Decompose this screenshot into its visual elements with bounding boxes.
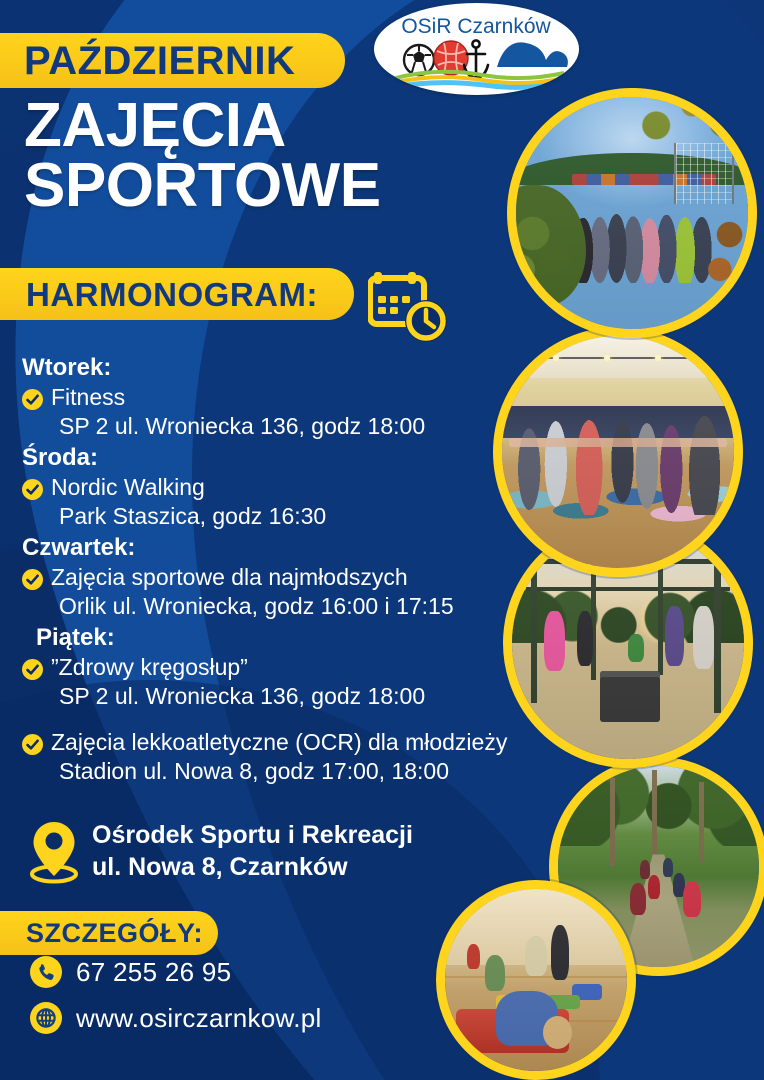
schedule-day-tuesday: Wtorek: — [22, 354, 522, 382]
activity-place: Park Staszica, godz 16:30 — [51, 502, 326, 531]
schedule-entry-text: Nordic Walking Park Staszica, godz 16:30 — [51, 473, 326, 532]
schedule-entry: ”Zdrowy kręgosłup” SP 2 ul. Wroniecka 13… — [22, 653, 522, 712]
schedule-entry: Fitness SP 2 ul. Wroniecka 136, godz 18:… — [22, 383, 522, 442]
activity-name: Zajęcia lekkoatletyczne (OCR) dla młodzi… — [51, 729, 507, 755]
check-icon — [22, 734, 43, 755]
activity-place: Orlik ul. Wroniecka, godz 16:00 i 17:15 — [51, 592, 454, 621]
logo-text: OSiR Czarnków — [401, 15, 551, 38]
activity-place: SP 2 ul. Wroniecka 136, godz 18:00 — [51, 682, 425, 711]
phone-number: 67 255 26 95 — [76, 957, 231, 988]
wave-icon — [497, 42, 568, 67]
schedule-entry: Nordic Walking Park Staszica, godz 16:30 — [22, 473, 522, 532]
venue-address-text: Ośrodek Sportu i Rekreacji ul. Nowa 8, C… — [92, 819, 413, 883]
schedule-entry-text: Fitness SP 2 ul. Wroniecka 136, godz 18:… — [51, 383, 425, 442]
poster-root: OSiR Czarnków — [0, 0, 764, 1080]
activity-name: ”Zdrowy kręgosłup” — [51, 654, 248, 680]
globe-icon — [30, 1002, 62, 1034]
calendar-clock-icon — [368, 266, 452, 346]
schedule-entry-text: Zajęcia lekkoatletyczne (OCR) dla młodzi… — [51, 728, 507, 787]
photo-indoor-fitness-class — [493, 327, 743, 577]
contact-phone[interactable]: 67 255 26 95 — [30, 956, 322, 988]
schedule-entry: Zajęcia sportowe dla najmłodszych Orlik … — [22, 563, 522, 622]
title-line-2: SPORTOWE — [24, 156, 381, 216]
activity-name: Zajęcia sportowe dla najmłodszych — [51, 564, 408, 590]
month-banner: PAŹDZIERNIK — [0, 33, 345, 88]
details-banner: SZCZEGÓŁY: — [0, 911, 218, 955]
page-title: ZAJĘCIA SPORTOWE — [24, 96, 381, 215]
venue-street: ul. Nowa 8, Czarnków — [92, 853, 348, 881]
check-icon — [22, 479, 43, 500]
title-line-1: ZAJĘCIA — [24, 91, 286, 160]
activity-name: Fitness — [51, 384, 125, 410]
schedule-entry: Zajęcia lekkoatletyczne (OCR) dla młodzi… — [22, 728, 522, 787]
photo-kids-gym — [436, 880, 636, 1080]
contact-list: 67 255 26 95 www.osirczarnkow.pl — [30, 956, 322, 1048]
photo-outdoor-group-field — [507, 88, 757, 338]
activity-place: SP 2 ul. Wroniecka 136, godz 18:00 — [51, 412, 425, 441]
osir-logo: OSiR Czarnków — [374, 3, 579, 95]
contact-website[interactable]: www.osirczarnkow.pl — [30, 1002, 322, 1034]
venue-name: Ośrodek Sportu i Rekreacji — [92, 821, 413, 849]
venue-address: Ośrodek Sportu i Rekreacji ul. Nowa 8, C… — [28, 818, 413, 884]
activity-place: Stadion ul. Nowa 8, godz 17:00, 18:00 — [51, 757, 507, 786]
check-icon — [22, 389, 43, 410]
check-icon — [22, 569, 43, 590]
schedule-banner: HARMONOGRAM: — [0, 268, 354, 320]
schedule-entry-text: ”Zdrowy kręgosłup” SP 2 ul. Wroniecka 13… — [51, 653, 425, 712]
schedule-day-thursday: Czwartek: — [22, 534, 522, 562]
phone-icon — [30, 956, 62, 988]
schedule-day-friday: Piątek: — [22, 624, 522, 652]
website-url: www.osirczarnkow.pl — [76, 1003, 322, 1034]
location-pin-icon — [28, 818, 80, 884]
check-icon — [22, 659, 43, 680]
schedule-day-wednesday: Środa: — [22, 444, 522, 472]
schedule-list: Wtorek: Fitness SP 2 ul. Wroniecka 136, … — [22, 352, 522, 786]
activity-name: Nordic Walking — [51, 474, 205, 500]
schedule-entry-text: Zajęcia sportowe dla najmłodszych Orlik … — [51, 563, 454, 622]
